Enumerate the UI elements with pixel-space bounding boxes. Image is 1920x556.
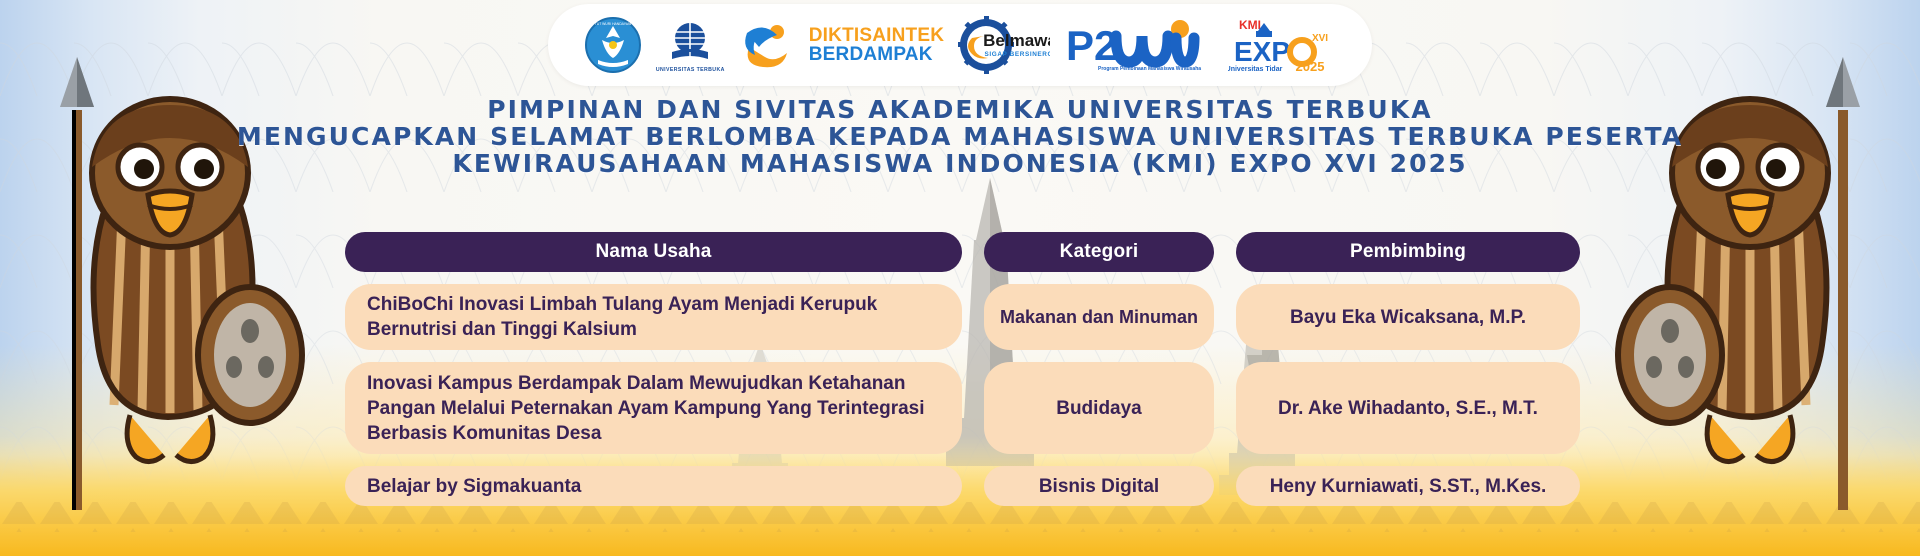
year-2025-word: 2025 [1296, 59, 1325, 74]
cell-nama-usaha: ChiBoChi Inovasi Limbah Tulang Ayam Menj… [345, 284, 962, 350]
belmawa-word: Belmawa [983, 31, 1050, 50]
diktisaintek-berdampak-logo: DIKTISAINTEK BERDAMPAK [809, 26, 944, 65]
cell-nama-usaha: Belajar by Sigmakuanta [345, 466, 962, 506]
cell-kategori: Bisnis Digital [984, 466, 1214, 506]
table-header-row: Nama Usaha Kategori Pembimbing [345, 232, 1580, 272]
column-header-kategori: Kategori [984, 232, 1214, 272]
banner-canvas: TUT WURI HANDAYANI UNIVERSITAS TERBUKA [0, 0, 1920, 556]
p2mw-logo: P2 Program Pembinaan Mahasiswa Wirausaha [1064, 18, 1214, 72]
cell-kategori: Makanan dan Minuman [984, 284, 1214, 350]
table-row: Belajar by Sigmakuanta Bisnis Digital He… [345, 466, 1580, 506]
diktisaintek-word: DIKTISAINTEK [809, 26, 944, 45]
shield-right [1618, 287, 1722, 423]
headline-line-3: KEWIRAUSAHAAN MAHASISWA INDONESIA (KMI) … [0, 150, 1920, 177]
diktisaintek-mark-logo [739, 19, 795, 71]
svg-text:TUT WURI HANDAYANI: TUT WURI HANDAYANI [594, 22, 631, 26]
page-title: PIMPINAN DAN SIVITAS AKADEMIKA UNIVERSIT… [0, 96, 1920, 177]
tut-wuri-handayani-logo: TUT WURI HANDAYANI [584, 16, 642, 74]
berdampak-word: BERDAMPAK [809, 45, 933, 64]
logo-bar: TUT WURI HANDAYANI UNIVERSITAS TERBUKA [548, 4, 1372, 86]
belmawa-tagline: SIGAP BERSINERGI [985, 51, 1050, 58]
shield-left [198, 287, 302, 423]
cell-kategori: Budidaya [984, 362, 1214, 454]
cell-nama-usaha: Inovasi Kampus Berdampak Dalam Mewujudka… [345, 362, 962, 454]
universitas-terbuka-caption: UNIVERSITAS TERBUKA [656, 67, 725, 73]
universitas-tidar-word: Universitas Tidar [1228, 66, 1283, 73]
cell-pembimbing: Bayu Eka Wicaksana, M.P. [1236, 284, 1580, 350]
participants-table: Nama Usaha Kategori Pembimbing ChiBoChi … [345, 232, 1580, 506]
table-row: ChiBoChi Inovasi Limbah Tulang Ayam Menj… [345, 284, 1580, 350]
cell-pembimbing: Heny Kurniawati, S.ST., M.Kes. [1236, 466, 1580, 506]
svg-text:P2: P2 [1066, 22, 1117, 69]
xvi-word: XVI [1312, 33, 1328, 44]
belmawa-logo: Belmawa SIGAP BERSINERGI [958, 16, 1050, 74]
p2mw-tagline: Program Pembinaan Mahasiswa Wirausaha [1098, 66, 1201, 72]
kmi-expo-logo: KMI EXP XVI Universitas Tidar 2025 [1228, 15, 1336, 75]
kmi-word: KMI [1239, 18, 1261, 32]
headline-line-1: PIMPINAN DAN SIVITAS AKADEMIKA UNIVERSIT… [0, 96, 1920, 123]
universitas-terbuka-logo: UNIVERSITAS TERBUKA [656, 18, 725, 73]
column-header-nama-usaha: Nama Usaha [345, 232, 962, 272]
column-header-pembimbing: Pembimbing [1236, 232, 1580, 272]
table-row: Inovasi Kampus Berdampak Dalam Mewujudka… [345, 362, 1580, 454]
headline-line-2: MENGUCAPKAN SELAMAT BERLOMBA KEPADA MAHA… [0, 123, 1920, 150]
expo-word: EXP [1234, 36, 1290, 67]
cell-pembimbing: Dr. Ake Wihadanto, S.E., M.T. [1236, 362, 1580, 454]
